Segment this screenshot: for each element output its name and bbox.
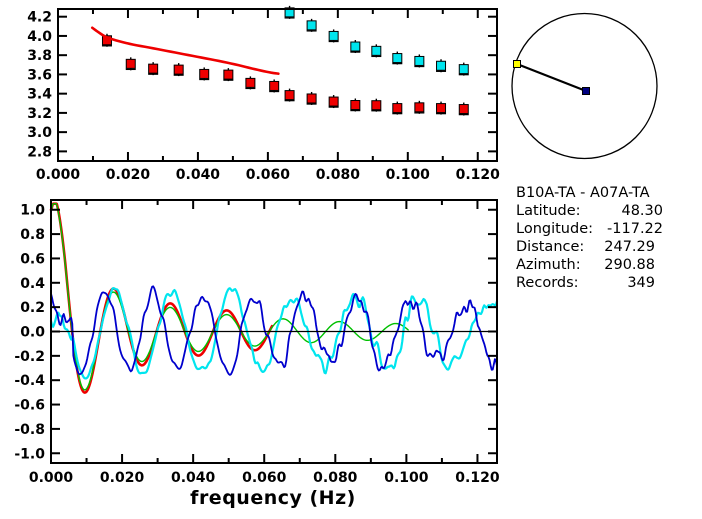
y-tick-label: 0.4 [20, 276, 45, 292]
x-tick-label: 0.000 [29, 470, 74, 486]
distance-value: 247.29 [604, 239, 655, 255]
higher-mode-measurements [285, 6, 469, 76]
dispersion-data-layer [92, 6, 468, 116]
latitude-value: 48.30 [621, 203, 663, 219]
y-tick-label: 2.8 [27, 144, 52, 160]
data-point-marker [351, 101, 360, 110]
data-point-marker [459, 65, 468, 74]
x-tick-label: 0.120 [455, 470, 500, 486]
data-point-marker [393, 104, 402, 113]
azimuth-label: Azimuth: [516, 257, 581, 273]
x-axis-label: frequency (Hz) [190, 487, 356, 509]
y-tick-label: 3.8 [27, 48, 52, 64]
figure-root: 0.0000.0200.0400.0600.0800.1000.120 2.83… [0, 0, 702, 519]
y-tick-label: -0.6 [14, 398, 45, 414]
data-point-marker [307, 94, 316, 103]
station-pair-info: B10A-TA - A07A-TA Latitude: 48.30 Longit… [516, 185, 663, 291]
crosscorrelation-x-tick-labels: 0.0000.0200.0400.0600.0800.1000.120 [29, 470, 500, 486]
globe-circle-outline [512, 14, 657, 159]
y-tick-label: 0.0 [20, 325, 45, 341]
data-point-marker [329, 31, 338, 40]
y-tick-label: 0.6 [20, 251, 45, 267]
records-label: Records: [516, 275, 579, 291]
seismic-dispersion-figure: 0.0000.0200.0400.0600.0800.1000.120 2.83… [0, 0, 702, 519]
data-point-marker [459, 105, 468, 114]
longitude-value: -117.22 [607, 221, 663, 237]
data-point-marker [224, 70, 233, 79]
x-tick-label: 0.040 [171, 470, 216, 486]
x-tick-label: 0.040 [176, 167, 221, 183]
y-tick-label: 3.6 [27, 67, 52, 83]
y-tick-label: 4.0 [27, 29, 52, 45]
y-tick-label: 4.2 [27, 10, 52, 26]
latitude-label: Latitude: [516, 203, 581, 219]
y-tick-label: -0.8 [14, 422, 45, 438]
data-point-marker [437, 61, 446, 70]
crosscorrelation-y-tick-labels: 1.00.80.60.40.20.0-0.2-0.4-0.6-0.8-1.0 [14, 203, 45, 463]
data-point-marker [307, 21, 316, 30]
y-tick-label: -0.4 [14, 373, 45, 389]
x-tick-label: 0.060 [242, 470, 287, 486]
data-point-marker [415, 56, 424, 65]
records-value: 349 [627, 275, 655, 291]
x-tick-label: 0.020 [106, 167, 151, 183]
y-tick-label: 0.2 [20, 300, 45, 316]
x-tick-label: 0.000 [36, 167, 81, 183]
x-tick-label: 0.100 [384, 470, 429, 486]
y-tick-label: 3.0 [27, 125, 52, 141]
data-point-marker [372, 101, 381, 110]
fundamental-mode-measurements [102, 34, 469, 116]
x-tick-label: 0.100 [386, 167, 431, 183]
y-tick-label: 3.2 [27, 106, 52, 122]
data-point-marker [351, 42, 360, 51]
great-circle-path-diagram [512, 14, 657, 159]
reference-dispersion-curve [92, 28, 278, 74]
crosscorrelation-data-layer [51, 204, 497, 393]
distance-label: Distance: [516, 239, 584, 255]
azimuth-value: 290.88 [604, 257, 655, 273]
data-point-marker [270, 81, 279, 90]
observed-cross-spectrum-b [51, 286, 497, 375]
data-point-marker [200, 69, 209, 78]
data-point-marker [437, 104, 446, 113]
crosscorrelation-panel: 0.0000.0200.0400.0600.0800.1000.120 1.00… [14, 200, 499, 509]
data-point-marker [174, 65, 183, 74]
station-a-marker [514, 61, 521, 68]
x-tick-label: 0.020 [100, 470, 145, 486]
station-pair-title: B10A-TA - A07A-TA [516, 185, 650, 201]
data-point-marker [246, 78, 255, 87]
station-b-marker [583, 88, 590, 95]
data-point-marker [149, 64, 158, 73]
y-tick-label: 1.0 [20, 203, 45, 219]
data-point-marker [415, 103, 424, 112]
data-point-marker [393, 54, 402, 63]
dispersion-panel: 0.0000.0200.0400.0600.0800.1000.120 2.83… [27, 6, 500, 183]
data-point-marker [329, 97, 338, 106]
y-tick-label: 3.4 [27, 87, 52, 103]
data-point-marker [285, 91, 294, 100]
longitude-label: Longitude: [516, 221, 593, 237]
dispersion-y-tick-labels: 2.83.03.23.43.63.84.04.2 [27, 10, 52, 161]
station-path-line [517, 64, 586, 91]
y-tick-label: -1.0 [14, 446, 45, 462]
data-point-marker [372, 46, 381, 55]
x-tick-label: 0.080 [316, 167, 361, 183]
data-point-marker [126, 59, 135, 68]
y-tick-label: -0.2 [14, 349, 45, 365]
x-tick-label: 0.120 [456, 167, 501, 183]
x-tick-label: 0.080 [313, 470, 358, 486]
y-tick-label: 0.8 [20, 227, 45, 243]
x-tick-label: 0.060 [246, 167, 291, 183]
dispersion-x-tick-labels: 0.0000.0200.0400.0600.0800.1000.120 [36, 167, 500, 183]
